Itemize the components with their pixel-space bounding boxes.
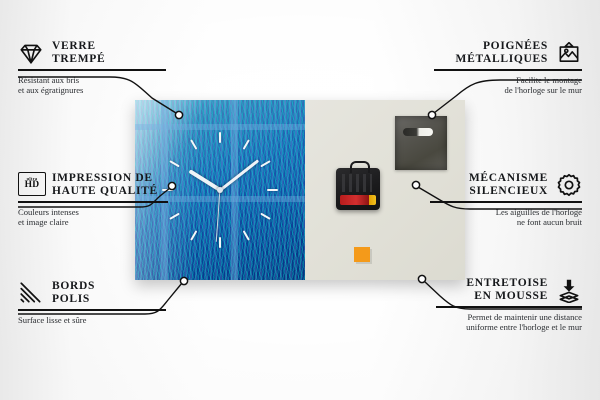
hands-center-cap bbox=[217, 187, 223, 193]
callout-divider bbox=[430, 201, 582, 203]
callout-subtitle: Permet de maintenir une distance uniform… bbox=[436, 312, 582, 333]
mechanism-detail bbox=[342, 174, 372, 192]
callout-impression-haute-qualite: ultra HD IMPRESSION DE HAUTE QUALITÉ Cou… bbox=[18, 172, 168, 227]
callout-divider bbox=[434, 69, 582, 71]
product-image bbox=[135, 100, 465, 280]
metal-hanger-plate bbox=[395, 116, 447, 170]
ultra-hd-icon-main: HD bbox=[25, 181, 40, 191]
polished-edge-icon bbox=[18, 280, 44, 306]
infographic-canvas: VERRE TREMPÉ Résistant aux bris et aux é… bbox=[0, 0, 600, 400]
gear-icon bbox=[556, 172, 582, 198]
callout-divider bbox=[18, 69, 166, 71]
quartz-mechanism bbox=[336, 168, 380, 210]
battery bbox=[340, 195, 376, 205]
callout-title: VERRE TREMPÉ bbox=[52, 40, 105, 66]
ultra-hd-icon: ultra HD bbox=[18, 172, 44, 198]
callout-poignees-metalliques: POIGNÉES MÉTALLIQUES Facilite le montage… bbox=[434, 40, 582, 95]
callout-title: POIGNÉES MÉTALLIQUES bbox=[456, 40, 548, 66]
callout-subtitle: Surface lisse et sûre bbox=[18, 315, 166, 325]
foam-spacer-icon bbox=[556, 277, 582, 303]
callout-verre-trempe: VERRE TREMPÉ Résistant aux bris et aux é… bbox=[18, 40, 166, 95]
callout-title: ENTRETOISE EN MOUSSE bbox=[466, 277, 548, 303]
mechanism-hanging-loop bbox=[350, 161, 370, 173]
minute-hand bbox=[219, 159, 259, 191]
second-hand bbox=[216, 190, 221, 242]
callout-divider bbox=[436, 306, 582, 308]
callout-divider bbox=[18, 309, 166, 311]
callout-title: MÉCANISME SILENCIEUX bbox=[469, 172, 548, 198]
callout-divider bbox=[18, 201, 168, 203]
callout-subtitle: Résistant aux bris et aux égratignures bbox=[18, 75, 166, 96]
callout-title: BORDS POLIS bbox=[52, 280, 95, 306]
callout-title: IMPRESSION DE HAUTE QUALITÉ bbox=[52, 172, 158, 198]
callout-bords-polis: BORDS POLIS Surface lisse et sûre bbox=[18, 280, 166, 325]
foam-spacer bbox=[354, 247, 370, 262]
callout-subtitle: Couleurs intenses et image claire bbox=[18, 207, 168, 228]
picture-frame-icon bbox=[556, 40, 582, 66]
callout-subtitle: Les aiguilles de l'horloge ne font aucun… bbox=[430, 207, 582, 228]
callout-entretoise-en-mousse: ENTRETOISE EN MOUSSE Permet de maintenir… bbox=[436, 277, 582, 332]
callout-subtitle: Facilite le montage de l'horloge sur le … bbox=[434, 75, 582, 96]
callout-mecanisme-silencieux: MÉCANISME SILENCIEUX Les aiguilles de l'… bbox=[430, 172, 582, 227]
diamond-icon bbox=[18, 40, 44, 66]
